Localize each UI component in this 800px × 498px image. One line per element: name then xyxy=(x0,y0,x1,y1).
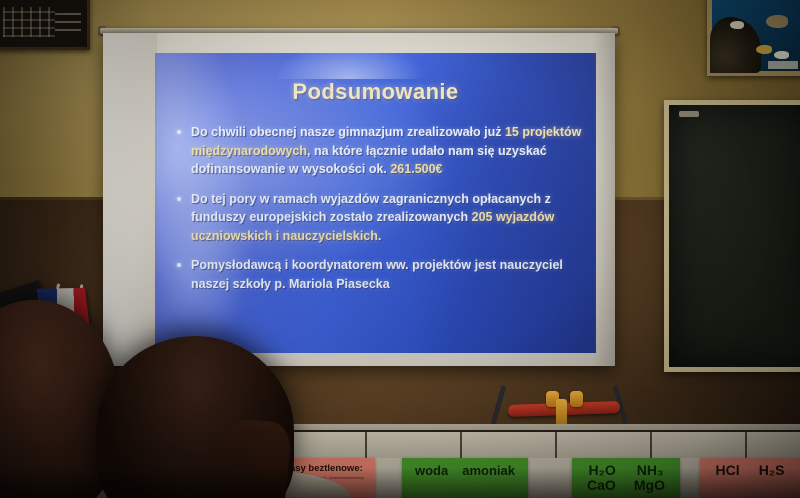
wall-notice-board xyxy=(0,0,90,50)
chem-card-row: H₂O NH₃ xyxy=(578,463,674,478)
notice-board-grid xyxy=(3,7,55,37)
classroom-photo-scene: Podsumowanie Do chwili obecnej nasze gim… xyxy=(0,0,800,498)
chem-card-row: HCl H₂S xyxy=(706,463,794,478)
fish-icon xyxy=(730,21,744,29)
poster-caption-tag xyxy=(768,61,798,69)
projector-glare xyxy=(275,53,425,79)
green-chalkboard xyxy=(664,100,800,372)
slide-text: Do chwili obecnej nasze gimnazjum zreali… xyxy=(191,125,505,139)
slide-bullet: Do chwili obecnej nasze gimnazjum zreali… xyxy=(173,123,584,179)
chem-card-cell: amoniak xyxy=(462,463,515,478)
slide-text: Pomysłodawcą i koordynatorem ww. projekt… xyxy=(191,258,563,291)
slide-bullet-list: Do chwili obecnej nasze gimnazjum zreali… xyxy=(173,123,584,304)
bullet-dot-icon xyxy=(177,197,181,201)
tile-seam xyxy=(650,432,652,460)
underwater-aquarium-poster xyxy=(707,0,800,76)
tile-seam xyxy=(555,432,557,460)
fish-icon xyxy=(756,45,772,54)
slide-text: . xyxy=(378,229,381,243)
chem-card-cell: H₂S xyxy=(759,463,785,478)
chem-card-cell: woda xyxy=(415,463,448,478)
chem-card-cell: H₂O xyxy=(589,463,616,478)
fish-icon xyxy=(766,15,788,28)
chem-card-cell: CaO xyxy=(587,478,616,493)
slide-text-highlight: 261.500€ xyxy=(390,162,442,176)
notice-board-lines xyxy=(55,9,81,31)
projection-screen: Podsumowanie Do chwili obecnej nasze gim… xyxy=(103,33,615,366)
slide-title: Podsumowanie xyxy=(155,79,596,105)
fish-icon xyxy=(774,51,789,59)
projected-slide: Podsumowanie Do chwili obecnej nasze gim… xyxy=(155,53,596,353)
chem-card-cell: NH₃ xyxy=(637,463,664,478)
chem-card-cell: HCl xyxy=(716,463,740,478)
tile-seam xyxy=(745,432,747,460)
chalkboard-clip xyxy=(679,111,699,117)
lab-knob xyxy=(570,391,583,407)
bullet-dot-icon xyxy=(177,130,181,134)
chem-card-formulas-green: H₂O NH₃ CaO MgO xyxy=(572,458,680,498)
chem-card-woda: woda amoniak xyxy=(402,458,528,498)
tile-seam xyxy=(460,432,462,460)
bullet-dot-icon xyxy=(177,263,181,267)
chem-card-row: CaO MgO xyxy=(578,478,674,493)
chem-card-row: woda amoniak xyxy=(408,463,522,478)
slide-bullet: Pomysłodawcą i koordynatorem ww. projekt… xyxy=(173,256,584,293)
tile-seam xyxy=(365,432,367,460)
slide-bullet: Do tej pory w ramach wyjazdów zagraniczn… xyxy=(173,190,584,246)
chem-card-cell: MgO xyxy=(634,478,665,493)
screen-left-fold xyxy=(103,33,157,366)
chem-card-formulas-red: HCl H₂S xyxy=(700,458,800,498)
screen-right-fold xyxy=(593,33,615,366)
